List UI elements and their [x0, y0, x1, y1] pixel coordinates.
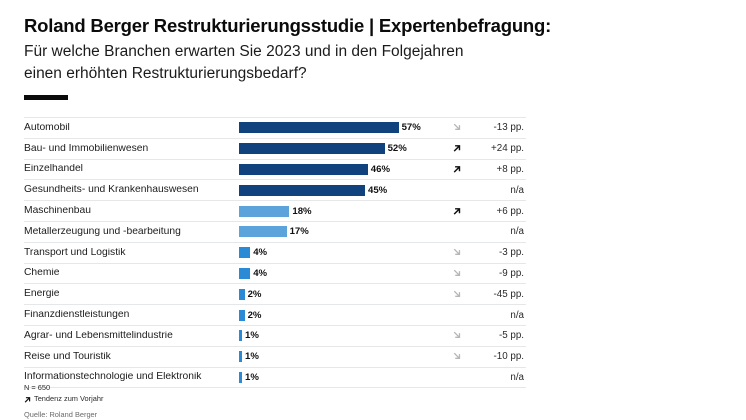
bar-value-label: 2% [248, 289, 262, 300]
title-accent-rule [24, 95, 68, 100]
table-row: Energie2%-45 pp. [24, 284, 526, 305]
bar-track: 1% [239, 347, 444, 367]
footnote-source-text: Quelle: Roland Berger [24, 409, 97, 420]
table-row: Einzelhandel46%+8 pp. [24, 160, 526, 181]
trend-value-label: -9 pp. [470, 268, 524, 279]
bar-track: 18% [239, 201, 444, 221]
bar-value-label: 4% [253, 247, 267, 258]
row-category-label: Chemie [24, 268, 239, 278]
trend-down-icon [444, 122, 470, 133]
footnote-trend-legend: Tendenz zum Vorjahr [24, 393, 424, 404]
bar-segment [239, 226, 287, 237]
bar-value-label: 17% [290, 226, 309, 237]
page-title: Roland Berger Restrukturierungsstudie | … [24, 14, 724, 37]
table-row: Chemie4%-9 pp. [24, 264, 526, 285]
bar-value-label: 4% [253, 268, 267, 279]
bar-value-label: 45% [368, 185, 387, 196]
bar-track: 46% [239, 160, 444, 180]
table-row: Gesundheits- und Krankenhauswesen45%n/a [24, 180, 526, 201]
trend-down-icon [444, 247, 470, 258]
trend-up-icon [444, 164, 470, 175]
trend-value-label: +24 pp. [470, 143, 524, 154]
bar-segment [239, 164, 368, 175]
trend-value-label: n/a [470, 185, 524, 196]
bar-track: 4% [239, 264, 444, 284]
bar-segment [239, 143, 385, 154]
footnote-sample-size-text: N = 650 [24, 382, 50, 393]
table-row: Finanzdienstleistungen2%n/a [24, 305, 526, 326]
bar-segment [239, 289, 245, 300]
row-category-label: Energie [24, 289, 239, 299]
chart-page: Roland Berger Restrukturierungsstudie | … [0, 0, 746, 419]
bar-track: 57% [239, 118, 444, 138]
bar-value-label: 18% [292, 206, 311, 217]
bar-segment [239, 206, 289, 217]
trend-value-label: -10 pp. [470, 351, 524, 362]
trend-down-icon [444, 289, 470, 300]
bar-track: 52% [239, 139, 444, 159]
bar-segment [239, 185, 365, 196]
page-subtitle-line-2: einen erhöhten Restrukturierungsbedarf? [24, 63, 724, 85]
bar-value-label: 1% [245, 330, 259, 341]
page-subtitle: Für welche Branchen erwarten Sie 2023 un… [24, 41, 724, 85]
trend-value-label: +6 pp. [470, 206, 524, 217]
bar-track: 2% [239, 305, 444, 325]
trend-value-label: -3 pp. [470, 247, 524, 258]
trend-value-label: +8 pp. [470, 164, 524, 175]
bar-segment [239, 122, 399, 133]
trend-value-label: -5 pp. [470, 330, 524, 341]
row-category-label: Einzelhandel [24, 164, 239, 174]
bar-track: 1% [239, 326, 444, 346]
row-category-label: Maschinenbau [24, 206, 239, 216]
trend-value-label: -13 pp. [470, 122, 524, 133]
table-row: Automobil57%-13 pp. [24, 117, 526, 139]
bar-value-label: 2% [248, 310, 262, 321]
page-subtitle-line-1: Für welche Branchen erwarten Sie 2023 un… [24, 41, 724, 63]
row-category-label: Metallerzeugung und -bearbeitung [24, 227, 239, 237]
trend-up-icon [24, 396, 31, 403]
row-category-label: Automobil [24, 123, 239, 133]
bar-segment [239, 330, 242, 341]
footnote-trend-legend-text: Tendenz zum Vorjahr [34, 393, 103, 404]
trend-value-label: n/a [470, 226, 524, 237]
bar-segment [239, 268, 250, 279]
trend-down-icon [444, 351, 470, 362]
bar-value-label: 52% [388, 143, 407, 154]
bar-value-label: 46% [371, 164, 390, 175]
trend-up-icon [444, 206, 470, 217]
row-category-label: Transport und Logistik [24, 248, 239, 258]
row-category-label: Bau- und Immobilienwesen [24, 144, 239, 154]
table-row: Metallerzeugung und -bearbeitung17%n/a [24, 222, 526, 243]
bar-track: 45% [239, 180, 444, 200]
trend-value-label: n/a [470, 372, 524, 383]
bar-chart: Automobil57%-13 pp.Bau- und Immobilienwe… [24, 117, 526, 388]
bar-value-label: 1% [245, 351, 259, 362]
table-row: Agrar- und Lebensmittelindustrie1%-5 pp. [24, 326, 526, 347]
footnote-sample-size: N = 650 [24, 382, 424, 393]
table-row: Bau- und Immobilienwesen52%+24 pp. [24, 139, 526, 160]
bar-segment [239, 351, 242, 362]
trend-down-icon [444, 330, 470, 341]
bar-segment [239, 310, 245, 321]
row-category-label: Finanzdienstleistungen [24, 310, 239, 320]
row-category-label: Agrar- und Lebensmittelindustrie [24, 331, 239, 341]
bar-segment [239, 247, 250, 258]
row-category-label: Reise und Touristik [24, 352, 239, 362]
bar-track: 2% [239, 284, 444, 304]
bar-value-label: 57% [402, 122, 421, 133]
trend-up-icon [444, 143, 470, 154]
chart-header: Roland Berger Restrukturierungsstudie | … [24, 14, 724, 85]
bar-track: 4% [239, 243, 444, 263]
trend-value-label: -45 pp. [470, 289, 524, 300]
table-row: Transport und Logistik4%-3 pp. [24, 243, 526, 264]
table-row: Maschinenbau18%+6 pp. [24, 201, 526, 222]
chart-footnotes: N = 650 Tendenz zum Vorjahr Quelle: Rola… [24, 382, 424, 420]
row-category-label: Gesundheits- und Krankenhauswesen [24, 185, 239, 195]
trend-value-label: n/a [470, 310, 524, 321]
table-row: Reise und Touristik1%-10 pp. [24, 347, 526, 368]
bar-track: 17% [239, 222, 444, 242]
trend-down-icon [444, 268, 470, 279]
footnote-source: Quelle: Roland Berger [24, 409, 424, 420]
